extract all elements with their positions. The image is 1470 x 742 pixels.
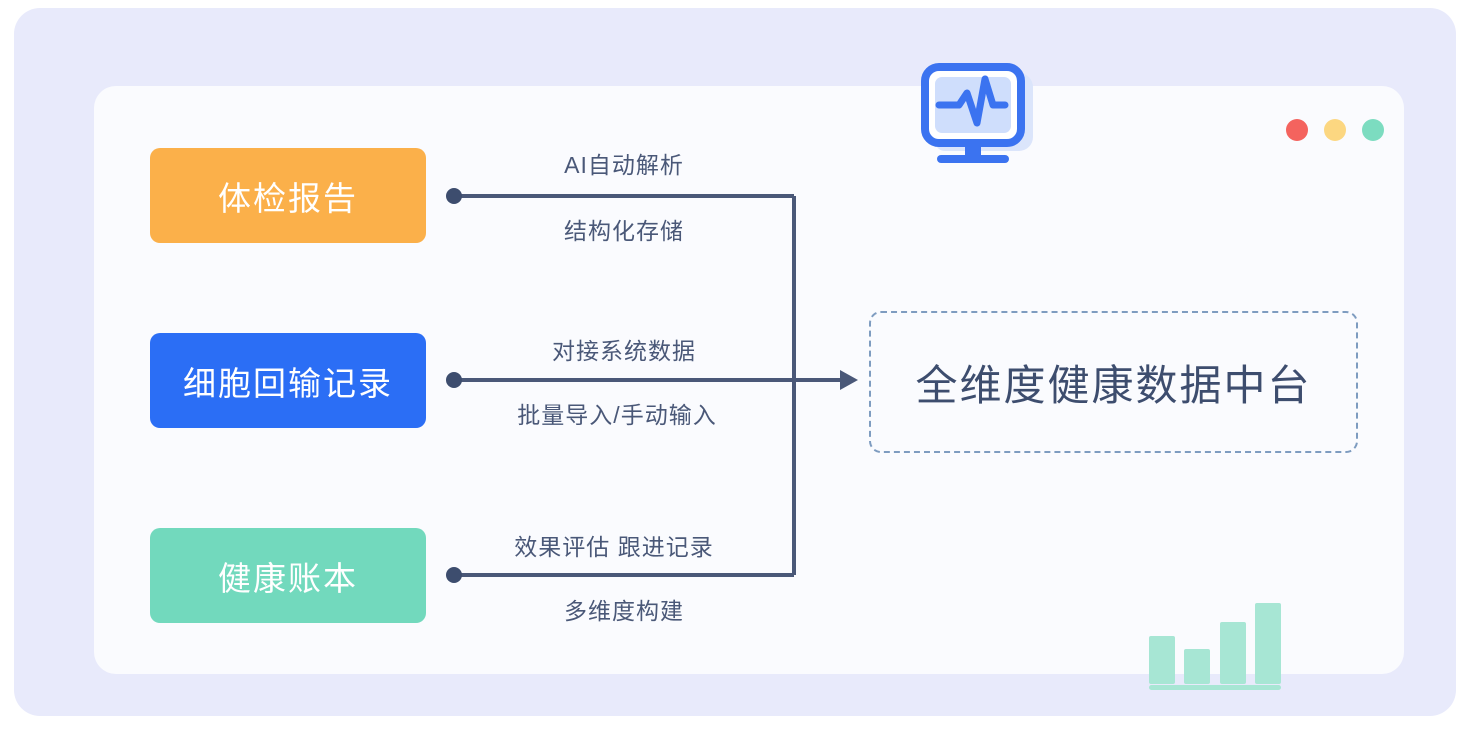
bar-chart-decoration <box>1149 598 1281 690</box>
source-card-cell-infusion-record[interactable]: 细胞回输记录 <box>150 333 426 428</box>
deco-bar <box>1220 622 1246 684</box>
deco-bar <box>1149 636 1175 684</box>
edge-label-ai-parse: AI自动解析 <box>564 146 684 180</box>
window-dot-green[interactable] <box>1362 119 1384 141</box>
source-card-label: 细胞回输记录 <box>183 357 393 405</box>
edge-label-effect-evaluation-followup: 效果评估 跟进记录 <box>514 528 713 562</box>
source-card-label: 健康账本 <box>218 552 358 600</box>
edge-label-multidimensional-build: 多维度构建 <box>564 592 684 626</box>
window-dots <box>1286 119 1384 141</box>
destination-box[interactable]: 全维度健康数据中台 <box>869 311 1358 453</box>
deco-bar <box>1255 603 1281 684</box>
deco-baseline <box>1149 685 1281 690</box>
destination-label: 全维度健康数据中台 <box>915 352 1311 413</box>
source-card-health-ledger[interactable]: 健康账本 <box>150 528 426 623</box>
window-dot-yellow[interactable] <box>1324 119 1346 141</box>
outer-panel: 体检报告 细胞回输记录 健康账本 AI自动解析 结构化存储 对接系统数据 批量导… <box>14 8 1456 716</box>
edge-label-system-data-integration: 对接系统数据 <box>552 332 696 366</box>
edge-label-structured-storage: 结构化存储 <box>564 212 684 246</box>
monitor-heartbeat-icon <box>919 63 1039 169</box>
source-card-label: 体检报告 <box>218 172 358 220</box>
window-dot-red[interactable] <box>1286 119 1308 141</box>
deco-bar <box>1184 649 1210 684</box>
source-card-health-report[interactable]: 体检报告 <box>150 148 426 243</box>
edge-label-bulk-import-manual-input: 批量导入/手动输入 <box>517 396 716 430</box>
